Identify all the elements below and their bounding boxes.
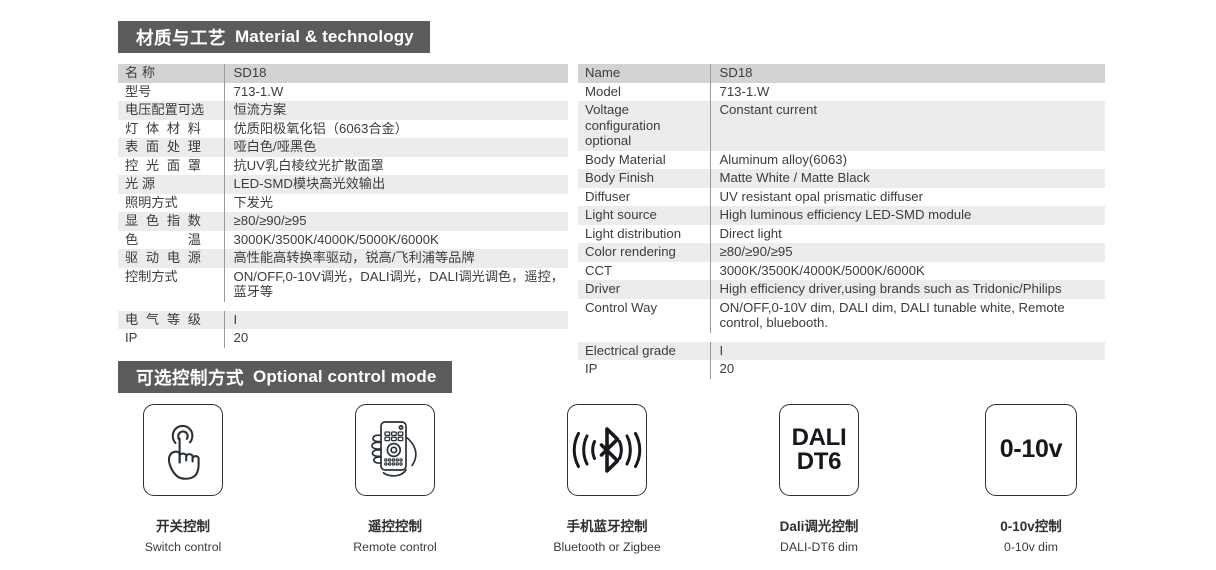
spec-key: 显 色 指 数 — [118, 212, 224, 231]
table-row: Diffuser UV resistant opal prismatic dif… — [578, 188, 1105, 207]
dali-badge-line2: DT6 — [792, 450, 847, 474]
spec-key: Diffuser — [578, 188, 710, 207]
spec-value: SD18 — [710, 64, 1105, 83]
spec-value: 下发光 — [224, 194, 568, 213]
table-row: Body Material Aluminum alloy(6063) — [578, 151, 1105, 170]
table-row: IP 20 — [578, 360, 1105, 379]
section-header-material: 材质与工艺 Material & technology — [118, 21, 430, 53]
table-row: Voltage configuration optional Constant … — [578, 101, 1105, 151]
control-mode-switch[interactable]: 开关控制 Switch control — [118, 404, 248, 554]
table-row: 驱 动 电 源 高性能高转换率驱动，锐高/飞利浦等品牌 — [118, 249, 568, 268]
spec-value: I — [710, 342, 1105, 361]
spec-value: Constant current — [710, 101, 1105, 151]
spec-value: UV resistant opal prismatic diffuser — [710, 188, 1105, 207]
table-row: 显 色 指 数 ≥80/≥90/≥95 — [118, 212, 568, 231]
bluetooth-wave-icon-box — [567, 404, 647, 496]
control-mode-remote[interactable]: 遥控控制 Remote control — [330, 404, 460, 554]
section-header-material-en: Material & technology — [235, 27, 414, 47]
spec-value: I — [224, 311, 568, 330]
control-mode-label-en: Bluetooth or Zigbee — [553, 540, 660, 554]
spec-value: 20 — [710, 360, 1105, 379]
control-mode-0-10v[interactable]: 0-10v 0-10v控制 0-10v dim — [966, 404, 1096, 554]
table-row: 表 面 处 理 哑白色/哑黑色 — [118, 138, 568, 157]
spec-value: ON/OFF,0-10V调光，DALI调光，DALI调光调色，遥控，蓝牙等 — [224, 268, 568, 302]
spec-key: 名 称 — [118, 64, 224, 83]
table-row: Control Way ON/OFF,0-10V dim, DALI dim, … — [578, 299, 1105, 333]
hand-remote-icon-box — [355, 404, 435, 496]
spec-key: 表 面 处 理 — [118, 138, 224, 157]
zero-to-ten-badge-box: 0-10v — [985, 404, 1077, 496]
table-row: 色 温 3000K/3500K/4000K/5000K/6000K — [118, 231, 568, 250]
spec-key: 驱 动 电 源 — [118, 249, 224, 268]
spec-value: 哑白色/哑黑色 — [224, 138, 568, 157]
spec-key: 照明方式 — [118, 194, 224, 213]
spec-key: 光 源 — [118, 175, 224, 194]
spec-table-english: Name SD18 Model 713-1.W Voltage configur… — [578, 64, 1105, 379]
control-mode-label-en: 0-10v dim — [1004, 540, 1058, 554]
spec-value: High luminous efficiency LED-SMD module — [710, 206, 1105, 225]
table-row: Color rendering ≥80/≥90/≥95 — [578, 243, 1105, 262]
product-spec-page: 材质与工艺 Material & technology 名 称 SD18 型号 … — [0, 0, 1216, 570]
control-mode-label-cn: Dali调光控制 — [780, 515, 859, 535]
spec-key: Name — [578, 64, 710, 83]
table-row: 型号 713-1.W — [118, 83, 568, 102]
spec-key: 控 光 面 罩 — [118, 157, 224, 176]
table-row: CCT 3000K/3500K/4000K/5000K/6000K — [578, 262, 1105, 281]
spec-key: 灯 体 材 料 — [118, 120, 224, 139]
control-mode-label-en: DALI-DT6 dim — [780, 540, 858, 554]
section-header-material-cn: 材质与工艺 — [136, 25, 226, 50]
spec-key: IP — [578, 360, 710, 379]
spec-value: 713-1.W — [710, 83, 1105, 102]
table-row: Light source High luminous efficiency LE… — [578, 206, 1105, 225]
spec-value: 高性能高转换率驱动，锐高/飞利浦等品牌 — [224, 249, 568, 268]
spec-value: 抗UV乳白棱纹光扩散面罩 — [224, 157, 568, 176]
control-mode-label-en: Remote control — [353, 540, 436, 554]
control-mode-bluetooth[interactable]: 手机蓝牙控制 Bluetooth or Zigbee — [542, 404, 672, 554]
spec-value: Matte White / Matte Black — [710, 169, 1105, 188]
spec-value: 713-1.W — [224, 83, 568, 102]
section-header-control-en: Optional control mode — [253, 367, 436, 387]
control-mode-dali[interactable]: DALI DT6 Dali调光控制 DALI-DT6 dim — [754, 404, 884, 554]
table-row: 名 称 SD18 — [118, 64, 568, 83]
spec-key: Body Finish — [578, 169, 710, 188]
spec-value: ≥80/≥90/≥95 — [710, 243, 1105, 262]
spec-key: Light distribution — [578, 225, 710, 244]
table-row: 控制方式 ON/OFF,0-10V调光，DALI调光，DALI调光调色，遥控，蓝… — [118, 268, 568, 302]
spec-value: High efficiency driver,using brands such… — [710, 280, 1105, 299]
spec-key: 型号 — [118, 83, 224, 102]
spec-value: ON/OFF,0-10V dim, DALI dim, DALI tunable… — [710, 299, 1105, 333]
dali-badge-line1: DALI — [792, 424, 847, 451]
table-row: Driver High efficiency driver,using bran… — [578, 280, 1105, 299]
hand-tap-icon — [155, 419, 211, 481]
spec-key: IP — [118, 329, 224, 348]
spec-value: 3000K/3500K/4000K/5000K/6000K — [224, 231, 568, 250]
table-row: 灯 体 材 料 优质阳极氧化铝（6063合金） — [118, 120, 568, 139]
hand-remote-icon — [364, 417, 426, 483]
bluetooth-wave-icon — [572, 424, 642, 476]
spec-key: 电压配置可选 — [118, 101, 224, 120]
table-row: 光 源 LED-SMD模块高光效输出 — [118, 175, 568, 194]
spec-key: Model — [578, 83, 710, 102]
table-row: 电压配置可选 恒流方案 — [118, 101, 568, 120]
table-row: IP 20 — [118, 329, 568, 348]
spec-key: Body Material — [578, 151, 710, 170]
hand-tap-icon-box — [143, 404, 223, 496]
table-row-spacer — [118, 302, 568, 311]
spec-value: 优质阳极氧化铝（6063合金） — [224, 120, 568, 139]
dali-dt6-badge: DALI DT6 — [792, 426, 847, 475]
spec-value: Aluminum alloy(6063) — [710, 151, 1105, 170]
spec-key: 电 气 等 级 — [118, 311, 224, 330]
control-mode-label-en: Switch control — [145, 540, 222, 554]
zero-to-ten-badge: 0-10v — [1000, 437, 1062, 463]
section-header-control-cn: 可选控制方式 — [136, 365, 244, 390]
control-mode-label-cn: 0-10v控制 — [1000, 515, 1062, 535]
spec-key: Light source — [578, 206, 710, 225]
spec-key: Color rendering — [578, 243, 710, 262]
control-mode-list: 开关控制 Switch control — [118, 404, 1096, 554]
spec-key: Driver — [578, 280, 710, 299]
table-row: 照明方式 下发光 — [118, 194, 568, 213]
control-mode-label-cn: 手机蓝牙控制 — [567, 515, 648, 535]
spec-value: 恒流方案 — [224, 101, 568, 120]
table-row: Name SD18 — [578, 64, 1105, 83]
table-row: Light distribution Direct light — [578, 225, 1105, 244]
spec-value: LED-SMD模块高光效输出 — [224, 175, 568, 194]
spec-key: Control Way — [578, 299, 710, 333]
spec-key: CCT — [578, 262, 710, 281]
spec-value: 20 — [224, 329, 568, 348]
table-row: Body Finish Matte White / Matte Black — [578, 169, 1105, 188]
spec-value: SD18 — [224, 64, 568, 83]
spec-value: Direct light — [710, 225, 1105, 244]
spec-value: ≥80/≥90/≥95 — [224, 212, 568, 231]
table-row: 控 光 面 罩 抗UV乳白棱纹光扩散面罩 — [118, 157, 568, 176]
table-row: 电 气 等 级 I — [118, 311, 568, 330]
spec-key: Electrical grade — [578, 342, 710, 361]
spec-key: 色 温 — [118, 231, 224, 250]
spec-value: 3000K/3500K/4000K/5000K/6000K — [710, 262, 1105, 281]
table-row: Electrical grade I — [578, 342, 1105, 361]
dali-dt6-badge-box: DALI DT6 — [779, 404, 859, 496]
control-mode-label-cn: 开关控制 — [156, 515, 210, 535]
spec-key: Voltage configuration optional — [578, 101, 710, 151]
table-row: Model 713-1.W — [578, 83, 1105, 102]
section-header-control: 可选控制方式 Optional control mode — [118, 361, 452, 393]
table-row-spacer — [578, 333, 1105, 342]
spec-key: 控制方式 — [118, 268, 224, 302]
control-mode-label-cn: 遥控控制 — [368, 515, 422, 535]
spec-table-chinese: 名 称 SD18 型号 713-1.W 电压配置可选 恒流方案 灯 体 材 料 … — [118, 64, 568, 348]
